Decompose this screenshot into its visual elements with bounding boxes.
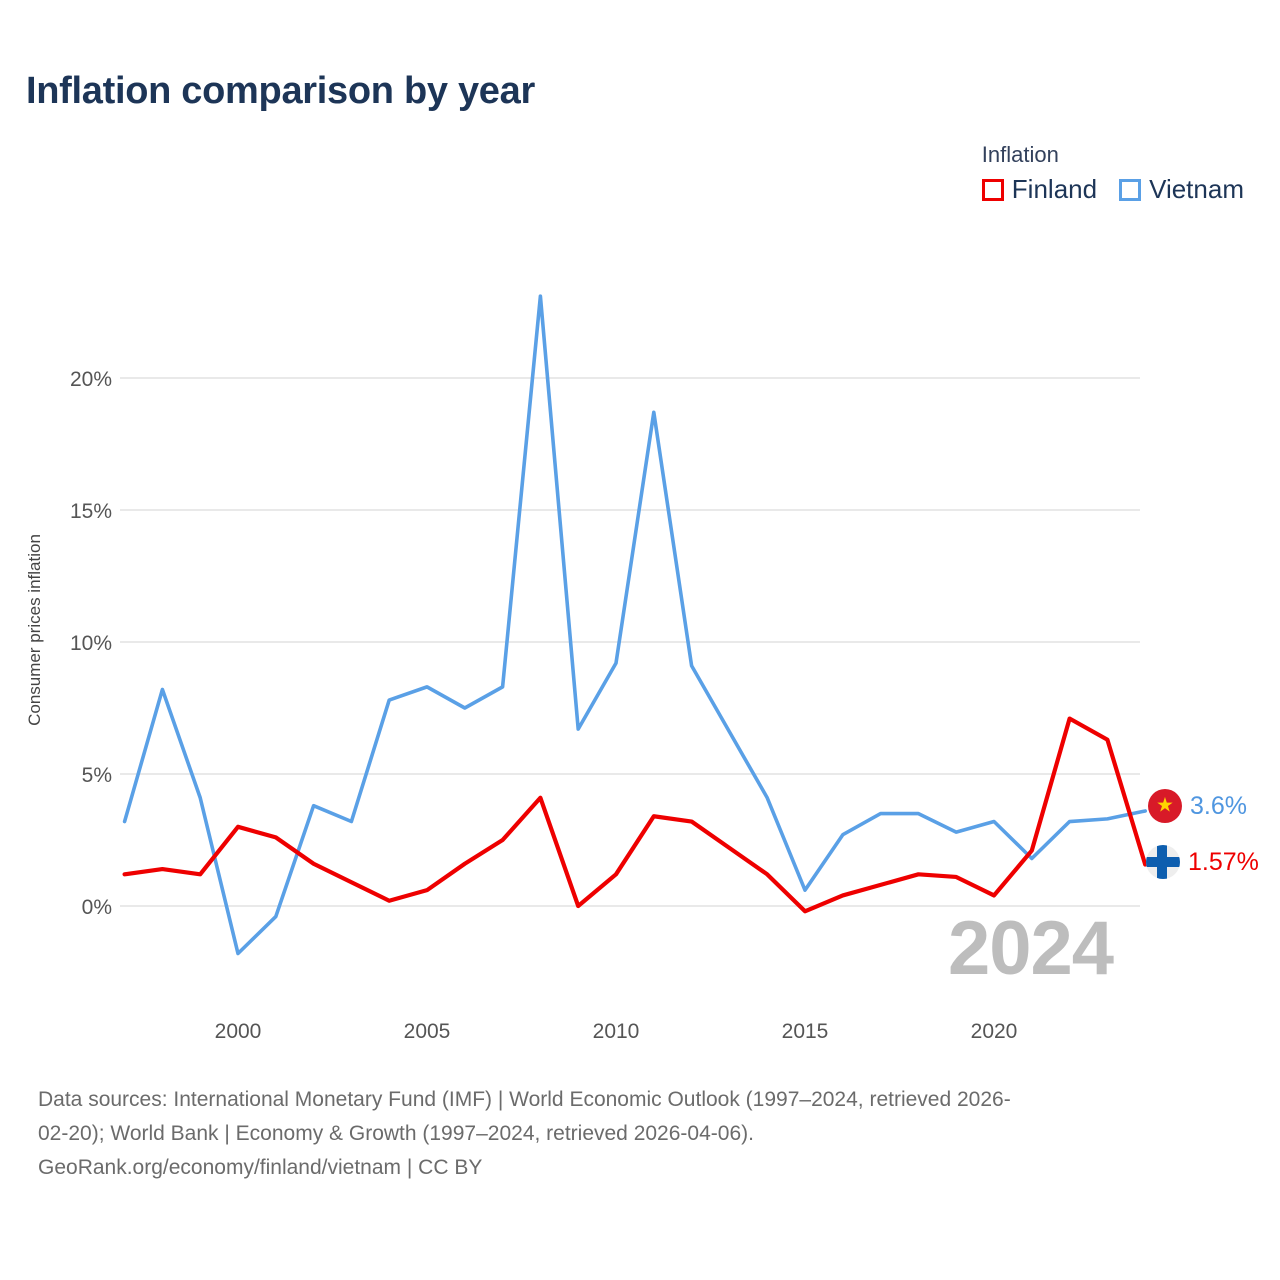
x-tick-labels: 20002005201020152020 bbox=[215, 1020, 1018, 1043]
y-tick-label: 20% bbox=[70, 368, 112, 391]
footer-sources: Data sources: International Monetary Fun… bbox=[38, 1083, 1248, 1185]
y-tick-label: 10% bbox=[70, 632, 112, 655]
x-tick-label: 2005 bbox=[404, 1020, 451, 1043]
x-tick-label: 2020 bbox=[971, 1020, 1018, 1043]
end-value-vietnam: 3.6% bbox=[1190, 792, 1247, 821]
x-tick-label: 2015 bbox=[782, 1020, 829, 1043]
end-label-vietnam: ★ 3.6% bbox=[1148, 789, 1247, 823]
y-tick-label: 0% bbox=[82, 896, 112, 919]
x-tick-label: 2010 bbox=[593, 1020, 640, 1043]
x-tick-label: 2000 bbox=[215, 1020, 262, 1043]
chart-page: Inflation comparison by year Inflation F… bbox=[0, 0, 1280, 1280]
footer-line-2: 02-20); World Bank | Economy & Growth (1… bbox=[38, 1117, 1248, 1151]
year-watermark: 2024 bbox=[948, 905, 1113, 992]
finland-flag-icon bbox=[1146, 845, 1180, 879]
plot-area: 0%5%10%15%20% 20002005201020152020 bbox=[0, 0, 1280, 1060]
end-value-finland: 1.57% bbox=[1188, 848, 1259, 877]
y-tick-label: 15% bbox=[70, 500, 112, 523]
end-label-finland: 1.57% bbox=[1146, 845, 1259, 879]
line-series-vietnam bbox=[125, 296, 1146, 953]
line-series-finland bbox=[125, 719, 1146, 912]
footer-line-3[interactable]: GeoRank.org/economy/finland/vietnam | CC… bbox=[38, 1151, 1248, 1185]
y-tick-labels: 0%5%10%15%20% bbox=[70, 368, 112, 919]
vietnam-flag-icon: ★ bbox=[1148, 789, 1182, 823]
gridlines bbox=[120, 378, 1140, 906]
footer-line-1: Data sources: International Monetary Fun… bbox=[38, 1083, 1248, 1117]
y-tick-label: 5% bbox=[82, 764, 112, 787]
